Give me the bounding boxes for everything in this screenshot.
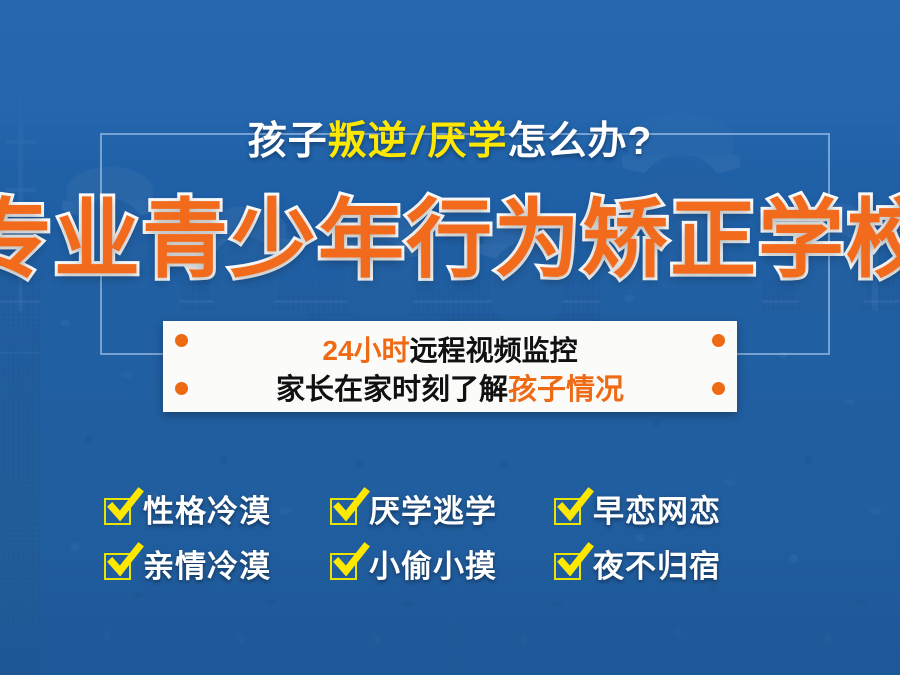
checkbox-checked-icon[interactable] [104,498,131,525]
checklist-item-label: 性格冷漠 [143,496,271,527]
checkbox-checked-icon[interactable] [104,553,131,580]
info-line-1-highlight: 24小时 [322,335,409,366]
headline-highlight-rebellion: 叛逆 [328,122,408,161]
headline: 孩子叛逆/厌学怎么办? [0,113,900,169]
checklist-item[interactable]: 性格冷漠 [104,484,330,539]
checklist-item[interactable]: 亲情冷漠 [104,539,330,594]
checklist-item[interactable]: 厌学逃学 [330,484,554,539]
symptom-checklist: 性格冷漠 厌学逃学 早恋网恋 亲情冷漠 小偷小摸 [104,484,804,594]
info-line-2-rest: 家长在家时刻了解 [276,374,508,406]
info-line-2-highlight: 孩子情况 [508,374,624,406]
headline-part2: 怎么办? [508,122,653,161]
promo-banner: 孩子叛逆/厌学怎么办? 专业青少年行为矫正学校 24小时远程视频监控 家长在家时… [0,0,900,675]
checkbox-checked-icon[interactable] [554,498,581,525]
checklist-item[interactable]: 夜不归宿 [554,539,780,594]
info-line-2: 家长在家时刻了解孩子情况 [163,376,737,405]
checkbox-checked-icon[interactable] [554,553,581,580]
headline-part1: 孩子 [248,122,328,161]
info-line-1-rest: 远程视频监控 [410,335,578,366]
checklist-item-label: 夜不归宿 [593,551,721,582]
headline-slash: / [408,122,428,161]
checklist-item[interactable]: 早恋网恋 [554,484,780,539]
page-title: 专业青少年行为矫正学校 [0,186,900,294]
info-line-1: 24小时远程视频监控 [163,337,737,365]
checklist-item-label: 早恋网恋 [593,496,721,527]
checkbox-checked-icon[interactable] [330,553,357,580]
headline-highlight-school-aversion: 厌学 [428,122,508,161]
checklist-item-label: 亲情冷漠 [143,551,271,582]
info-box: 24小时远程视频监控 家长在家时刻了解孩子情况 [163,321,737,412]
checklist-item[interactable]: 小偷小摸 [330,539,554,594]
checkbox-checked-icon[interactable] [330,498,357,525]
checklist-item-label: 小偷小摸 [369,551,497,582]
checklist-item-label: 厌学逃学 [369,496,497,527]
